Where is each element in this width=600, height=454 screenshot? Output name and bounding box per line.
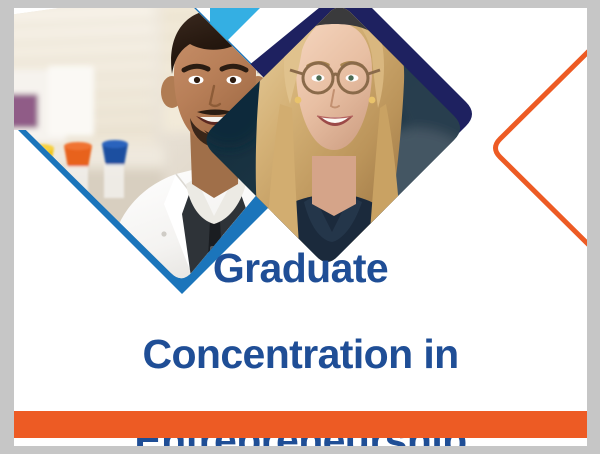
banner-frame: Graduate Concentration in Entrepreneursh… [0, 0, 600, 454]
page-title: Graduate Concentration in Entrepreneursh… [24, 204, 577, 446]
orange-footer-bar [14, 411, 587, 438]
title-line-1: Graduate [24, 247, 577, 290]
banner-card: Graduate Concentration in Entrepreneursh… [14, 8, 587, 446]
title-line-2: Concentration in [24, 333, 577, 376]
